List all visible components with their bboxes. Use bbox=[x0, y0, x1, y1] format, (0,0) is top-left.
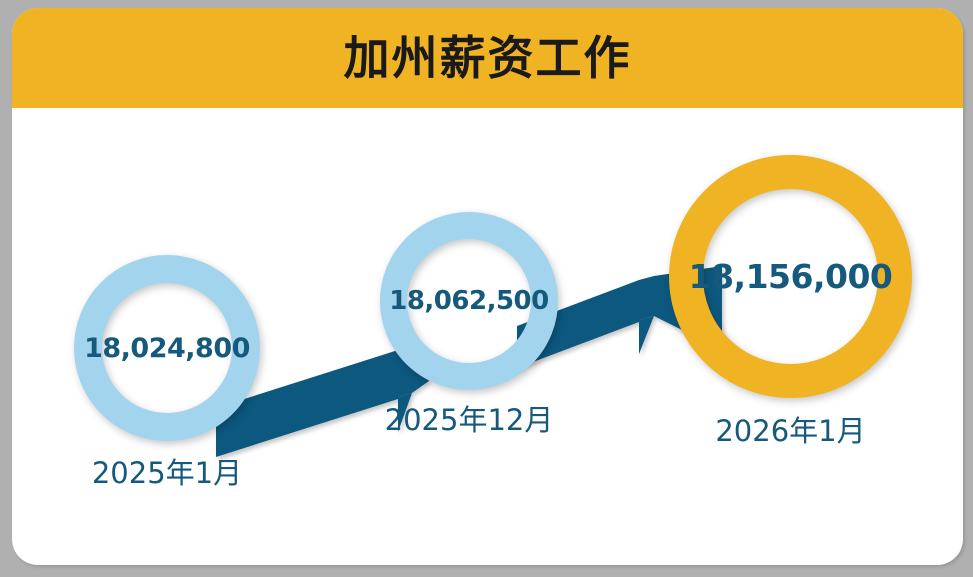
node-1-value: 18,024,800 bbox=[74, 255, 260, 441]
node-3-period-label: 2026年1月 bbox=[669, 417, 912, 446]
timeline-node-3[interactable]: 18,156,000 2026年1月 bbox=[669, 155, 912, 398]
page-title: 加州薪资工作 bbox=[344, 35, 632, 81]
node-1-period-label: 2025年1月 bbox=[74, 459, 260, 488]
infographic-card: 加州薪资工作 bbox=[12, 8, 963, 565]
header-bar: 加州薪资工作 bbox=[12, 8, 963, 108]
node-2-period-label: 2025年12月 bbox=[380, 406, 558, 435]
node-2-value: 18,062,500 bbox=[380, 212, 558, 390]
timeline-stage: 18,024,800 2025年1月 18,062,500 2025年12月 1… bbox=[12, 108, 963, 565]
timeline-node-1[interactable]: 18,024,800 2025年1月 bbox=[74, 255, 260, 441]
timeline-node-2[interactable]: 18,062,500 2025年12月 bbox=[380, 212, 558, 390]
node-3-value: 18,156,000 bbox=[669, 155, 912, 398]
